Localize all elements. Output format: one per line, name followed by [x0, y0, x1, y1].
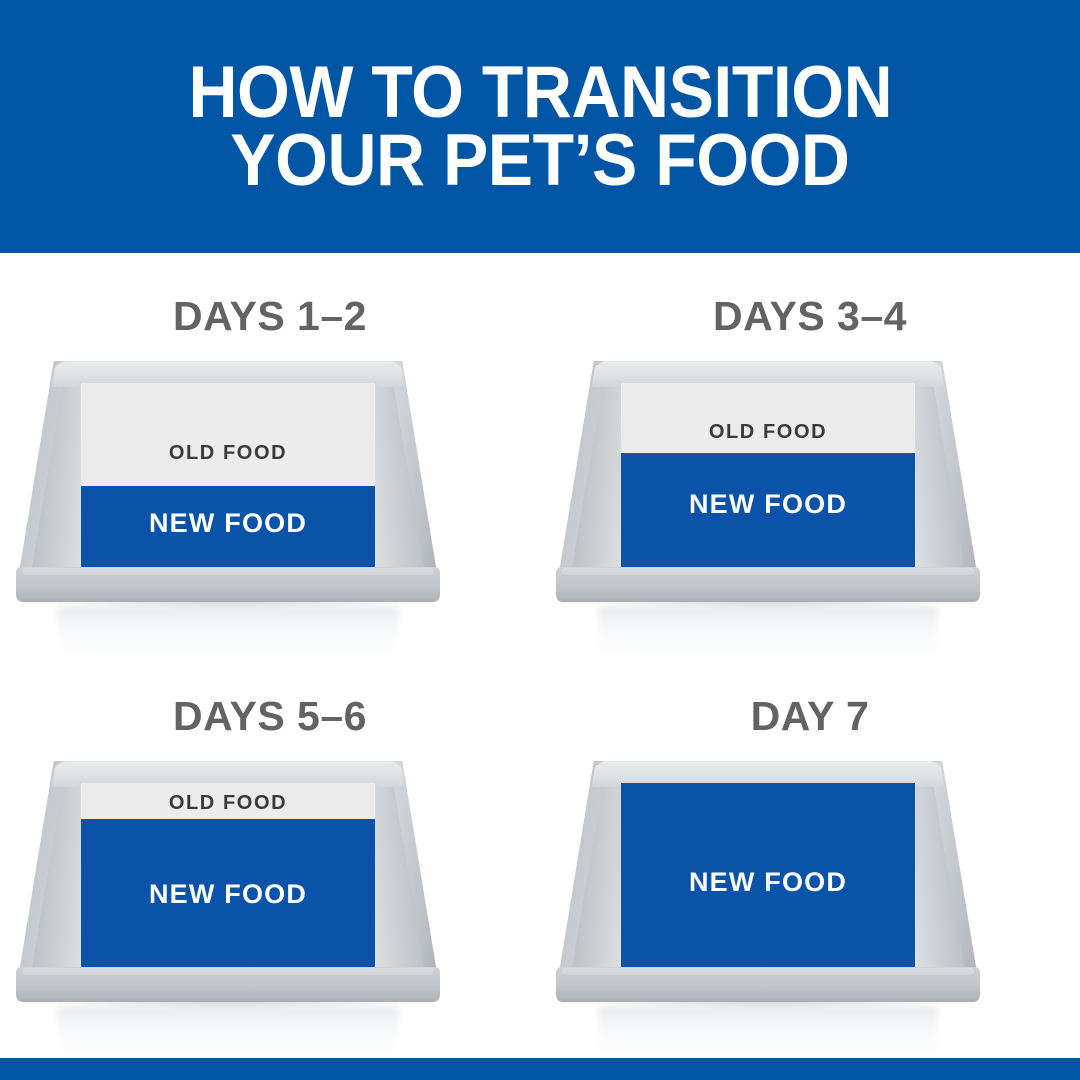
bowl-reflection: [58, 1007, 398, 1061]
bowl-base-plinth: [556, 567, 980, 602]
stage-label-days-5-6: DAYS 5–6: [0, 693, 540, 740]
stage-card-day-7: DAY 7 NEW FOOD: [540, 653, 1080, 1053]
bowl-food-window: NEW FOOD: [621, 783, 915, 979]
bowl-reflection: [598, 1007, 938, 1061]
new-food-label: NEW FOOD: [621, 489, 915, 520]
old-food-label: OLD FOOD: [81, 792, 375, 815]
stage-card-days-5-6: DAYS 5–6 OLD FOOD NEW FOOD: [0, 653, 540, 1053]
bowl-base-plinth: [16, 567, 440, 602]
page-title-line-2: YOUR PET’S FOOD: [230, 127, 849, 195]
header-banner: HOW TO TRANSITION YOUR PET’S FOOD: [0, 0, 1080, 253]
bowl-base-plinth: [16, 967, 440, 1002]
stage-label-days-3-4: DAYS 3–4: [540, 293, 1080, 340]
food-bowl-days-1-2: OLD FOOD NEW FOOD: [18, 361, 438, 613]
stage-card-days-1-2: DAYS 1–2 OLD FOOD NEW FOOD: [0, 253, 540, 653]
bowl-food-window: OLD FOOD NEW FOOD: [621, 383, 915, 579]
footer-banner: [0, 1058, 1080, 1080]
stage-card-days-3-4: DAYS 3–4 OLD FOOD NEW FOOD: [540, 253, 1080, 653]
bowl-food-window: OLD FOOD NEW FOOD: [81, 783, 375, 979]
food-bowl-days-3-4: OLD FOOD NEW FOOD: [558, 361, 978, 613]
bowl-food-window: OLD FOOD NEW FOOD: [81, 383, 375, 579]
bowl-base-plinth: [556, 967, 980, 1002]
new-food-label: NEW FOOD: [81, 508, 375, 539]
new-food-label: NEW FOOD: [621, 867, 915, 898]
new-food-label: NEW FOOD: [81, 879, 375, 910]
old-food-label: OLD FOOD: [621, 421, 915, 444]
stage-label-day-7: DAY 7: [540, 693, 1080, 740]
stage-label-days-1-2: DAYS 1–2: [0, 293, 540, 340]
page-title-line-1: HOW TO TRANSITION: [188, 59, 892, 127]
old-food-label: OLD FOOD: [81, 442, 375, 465]
food-bowl-day-7: NEW FOOD: [558, 761, 978, 1013]
food-bowl-days-5-6: OLD FOOD NEW FOOD: [18, 761, 438, 1013]
transition-stage-grid: DAYS 1–2 OLD FOOD NEW FOOD DAYS 3–4: [0, 253, 1080, 1058]
